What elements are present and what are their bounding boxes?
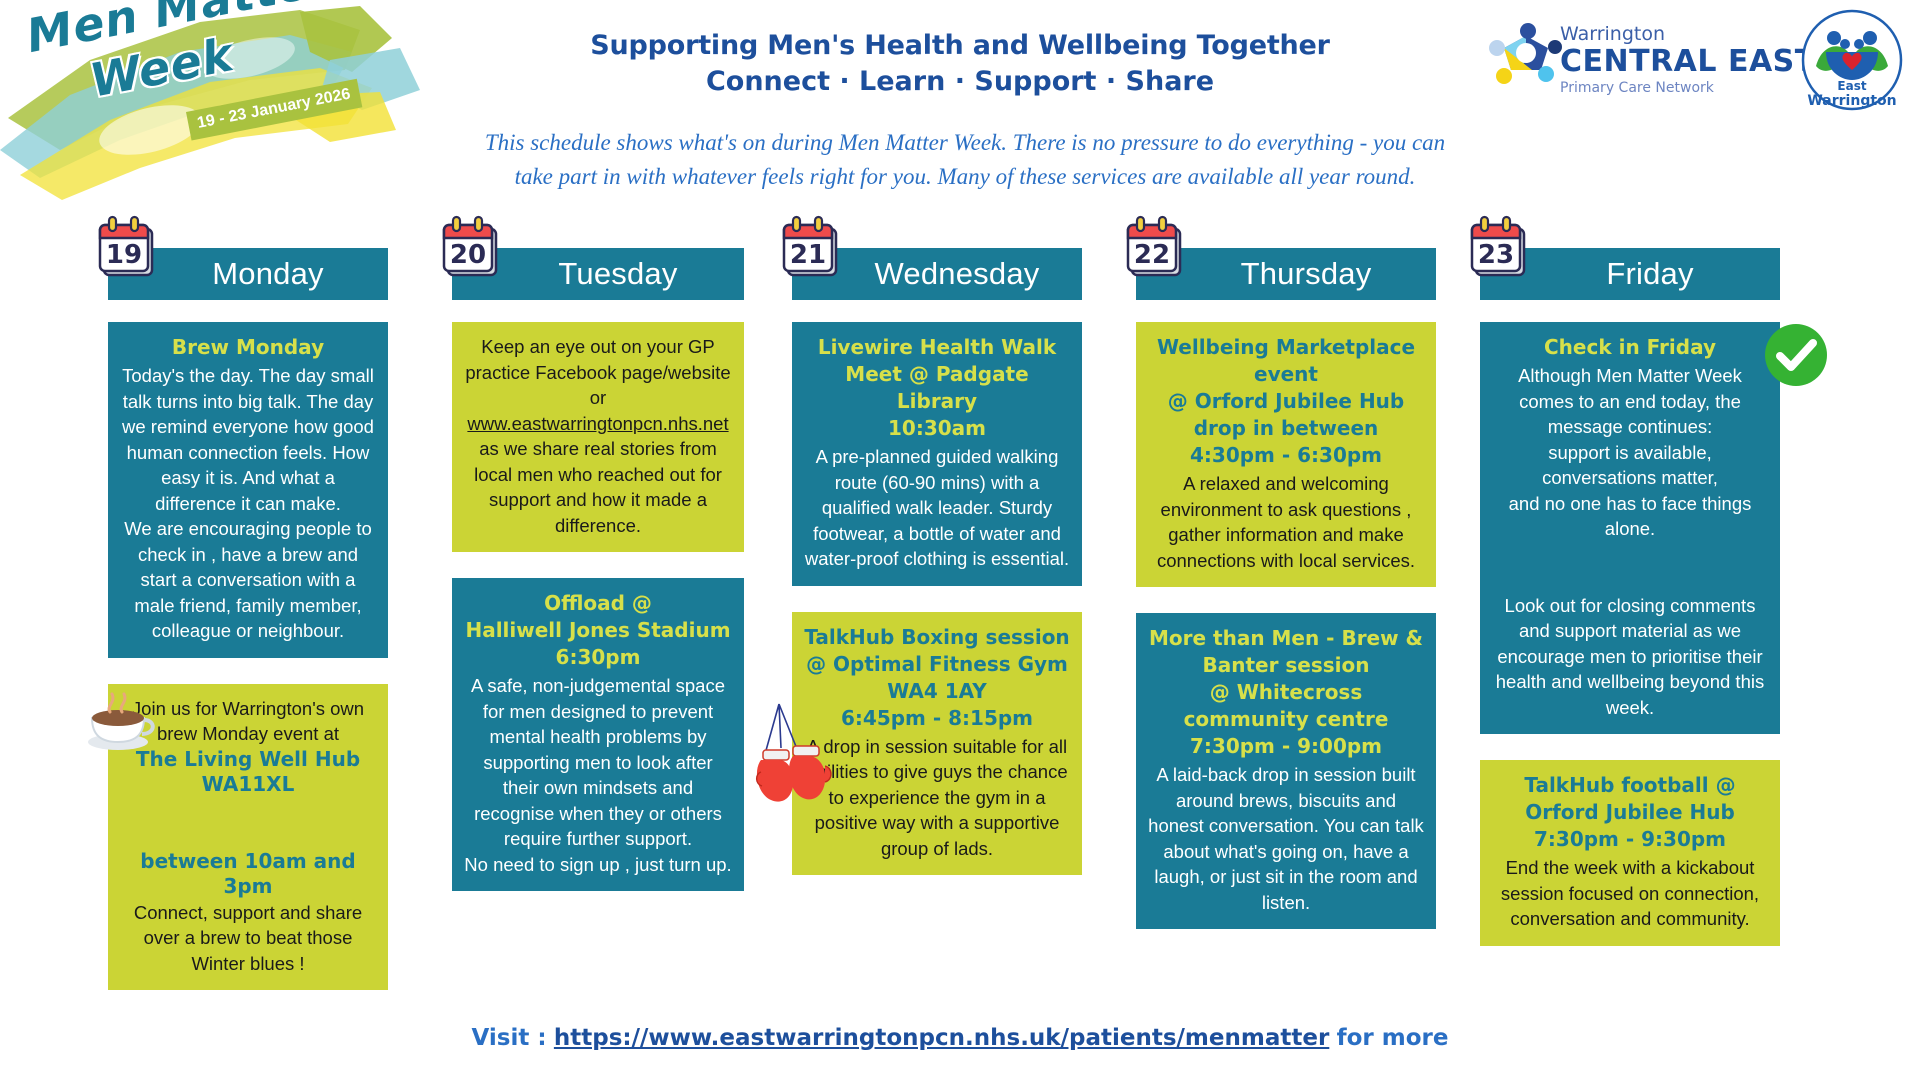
event-card: Brew MondayToday's the day. The day smal… xyxy=(108,322,388,658)
page-title: Supporting Men's Health and Wellbeing To… xyxy=(460,28,1460,64)
card-spacer xyxy=(108,300,388,322)
day-column-friday: 23 FridayCheck in FridayAlthough Men Mat… xyxy=(1480,248,1780,946)
event-card-title: Brew Monday xyxy=(120,334,376,361)
pcn-logo-line-3: Primary Care Network xyxy=(1560,79,1816,97)
svg-text:19: 19 xyxy=(106,240,142,270)
pcn-logo-text: Warrington CENTRAL EAST Primary Care Net… xyxy=(1560,23,1816,97)
event-card: Offload @Halliwell Jones Stadium6:30pmA … xyxy=(452,578,744,891)
card-spacer xyxy=(1136,587,1436,613)
calendar-icon: 20 xyxy=(440,215,504,283)
day-header-friday: 23 Friday xyxy=(1480,248,1780,300)
event-card-body: Keep an eye out on your GP practice Face… xyxy=(464,334,732,411)
footer-visit-line: Visit : https://www.eastwarringtonpcn.nh… xyxy=(0,1025,1920,1051)
event-card-body: A drop in session suitable for all abili… xyxy=(804,734,1070,862)
event-card-title: TalkHub Boxing session@ Optimal Fitness … xyxy=(804,624,1070,732)
event-card-title: More than Men - Brew & Banter session@ W… xyxy=(1148,625,1424,760)
card-spacer xyxy=(1480,300,1780,322)
event-card-body-2: as we share real stories from local men … xyxy=(464,436,732,538)
pcn-logo-line-2: CENTRAL EAST xyxy=(1560,45,1816,79)
event-card-title: Livewire Health WalkMeet @ Padgate Libra… xyxy=(804,334,1070,442)
svg-text:East: East xyxy=(1837,79,1866,93)
calendar-icon: 21 xyxy=(780,215,844,283)
pcn-logo-line-1: Warrington xyxy=(1560,23,1816,45)
card-spacer xyxy=(452,300,744,322)
day-column-tuesday: 20 TuesdayKeep an eye out on your GP pra… xyxy=(452,248,744,891)
card-spacer xyxy=(792,300,1082,322)
card-spacer xyxy=(452,552,744,578)
svg-text:20: 20 xyxy=(450,240,486,270)
event-card-body: A pre-planned guided walking route (60-9… xyxy=(804,444,1070,572)
event-card-body: End the week with a kickabout session fo… xyxy=(1492,855,1768,932)
day-header-tuesday: 20 Tuesday xyxy=(452,248,744,300)
footer-prefix: Visit : xyxy=(472,1025,547,1051)
event-card-title: Offload @Halliwell Jones Stadium6:30pm xyxy=(464,590,732,671)
event-card-body: A relaxed and welcoming environment to a… xyxy=(1148,471,1424,573)
event-card: Livewire Health WalkMeet @ Padgate Libra… xyxy=(792,322,1082,586)
day-column-thursday: 22 ThursdayWellbeing Marketplace event@ … xyxy=(1136,248,1436,929)
event-card: Keep an eye out on your GP practice Face… xyxy=(452,322,744,552)
event-card-title: TalkHub football @ Orford Jubilee Hub7:3… xyxy=(1492,772,1768,853)
tea-cup-icon xyxy=(84,690,158,752)
calendar-icon: 19 xyxy=(96,215,160,283)
event-card-body: A safe, non-judgemental space for men de… xyxy=(464,673,732,877)
event-card: Wellbeing Marketplace event@ Orford Jubi… xyxy=(1136,322,1436,587)
east-warrington-logo-icon: East Warrington xyxy=(1800,8,1905,113)
svg-text:22: 22 xyxy=(1134,240,1170,270)
men-matter-week-logo: Men Matter Week 19 - 23 January 2026 xyxy=(0,0,440,215)
event-card-body: Today's the day. The day small talk turn… xyxy=(120,363,376,644)
event-card-link[interactable]: www.eastwarringtonpcn.nhs.net xyxy=(464,411,732,437)
day-header-thursday: 22 Thursday xyxy=(1136,248,1436,300)
boxing-gloves-icon xyxy=(755,702,841,812)
card-spacer xyxy=(792,586,1082,612)
footer-suffix: for more xyxy=(1337,1025,1449,1051)
footer-url-link[interactable]: https://www.eastwarringtonpcn.nhs.uk/pat… xyxy=(554,1025,1329,1051)
card-spacer xyxy=(108,658,388,684)
event-card: TalkHub football @ Orford Jubilee Hub7:3… xyxy=(1480,760,1780,946)
svg-text:Warrington: Warrington xyxy=(1807,93,1896,109)
event-card-title: Check in Friday xyxy=(1492,334,1768,361)
event-card: Check in FridayAlthough Men Matter Week … xyxy=(1480,322,1780,734)
event-card: More than Men - Brew & Banter session@ W… xyxy=(1136,613,1436,929)
event-card-body-2: Connect, support and share over a brew t… xyxy=(120,900,376,977)
day-column-monday: 19 MondayBrew MondayToday's the day. The… xyxy=(108,248,388,990)
calendar-icon: 22 xyxy=(1124,215,1188,283)
day-header-monday: 19 Monday xyxy=(108,248,388,300)
event-card-highlight: The Living Well HubWA11XLbetween 10am an… xyxy=(120,747,376,900)
card-spacer xyxy=(1480,734,1780,760)
page-subtitle: Connect · Learn · Support · Share xyxy=(460,64,1460,100)
day-header-wednesday: 21 Wednesday xyxy=(792,248,1082,300)
event-card-title: Wellbeing Marketplace event@ Orford Jubi… xyxy=(1148,334,1424,469)
event-card-body: A laid-back drop in session built around… xyxy=(1148,762,1424,915)
calendar-icon: 23 xyxy=(1468,215,1532,283)
poster-canvas: Men Matter Week 19 - 23 January 2026 Sup… xyxy=(0,0,1920,1080)
intro-paragraph: This schedule shows what's on during Men… xyxy=(470,126,1460,194)
warrington-central-east-mark-icon xyxy=(1488,22,1564,84)
card-spacer xyxy=(1136,300,1436,322)
svg-text:21: 21 xyxy=(790,240,826,270)
event-card-body: Join us for Warrington's own brew Monday… xyxy=(120,696,376,747)
event-card-body: Although Men Matter Week comes to an end… xyxy=(1492,363,1768,720)
green-check-circle-icon xyxy=(1763,322,1829,388)
svg-text:23: 23 xyxy=(1478,240,1514,270)
